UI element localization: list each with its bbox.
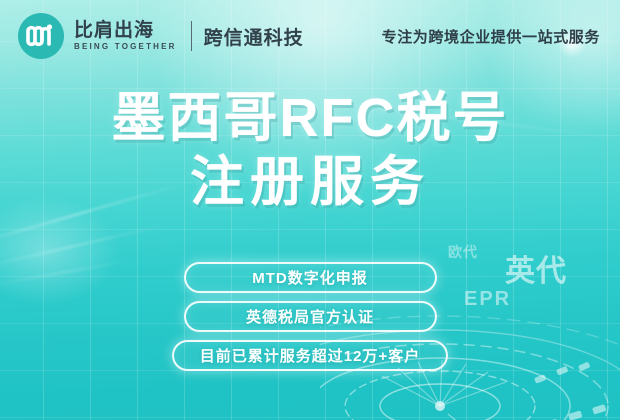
header-tagline: 专注为跨境企业提供一站式服务 <box>382 26 600 47</box>
brand-name-en: BEING TOGETHER <box>74 43 177 51</box>
brand-company-name: 跨信通科技 <box>204 23 304 50</box>
brand-lockup[interactable]: 比肩出海 BEING TOGETHER 跨信通科技 <box>18 13 304 59</box>
headline-line-1: 墨西哥RFC税号 <box>0 88 620 148</box>
promo-banner: 欧代 英代 EPR 比肩出海 BEING TOGETHER 跨信通科技 <box>0 0 620 420</box>
watermark-ou-dai: 欧代 <box>448 242 478 262</box>
banner-header: 比肩出海 BEING TOGETHER 跨信通科技 专注为跨境企业提供一站式服务 <box>0 0 620 72</box>
headline-block: 墨西哥RFC税号 注册服务 <box>0 88 620 213</box>
headline-line-2: 注册服务 <box>0 152 620 212</box>
brand-text-block: 比肩出海 BEING TOGETHER <box>74 21 177 51</box>
being-together-logo-icon <box>18 13 64 59</box>
feature-pill-list: MTD数字化申报 英德税局官方认证 目前已累计服务超过12万+客户 <box>0 262 620 371</box>
feature-pill-mtd[interactable]: MTD数字化申报 <box>184 262 437 293</box>
brand-name-cn: 比肩出海 <box>74 21 177 41</box>
feature-pill-customer-count[interactable]: 目前已累计服务超过12万+客户 <box>172 340 448 371</box>
brand-divider <box>191 21 192 51</box>
feature-pill-certification[interactable]: 英德税局官方认证 <box>184 301 437 332</box>
